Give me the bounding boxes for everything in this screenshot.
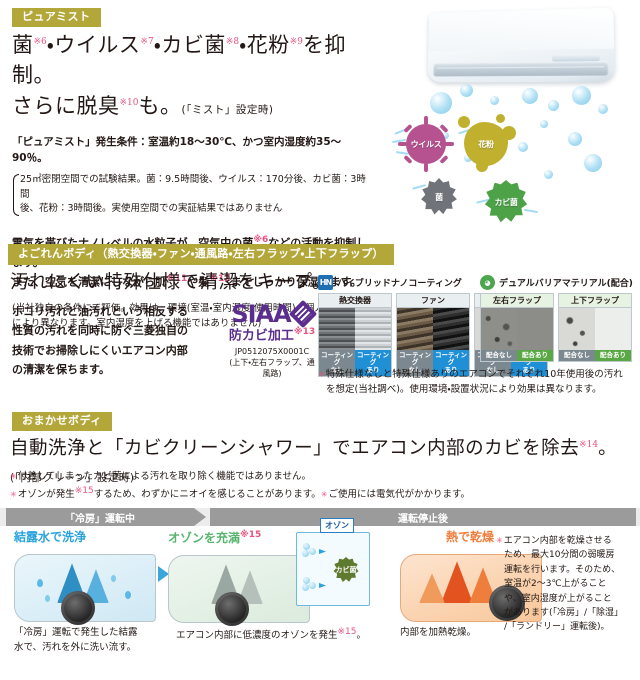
coating-table-note: 特殊仕様なしと特殊仕様ありのエアコンでそれぞれ10年使用後の汚れ を想定(当社調…: [318, 368, 638, 397]
water-droplet: [37, 579, 43, 587]
cell-images: [319, 308, 391, 350]
air-conditioner-unit-icon: [427, 8, 615, 83]
omakase-note-2-cont: するため、わずかにニオイを感じることがあります。: [94, 489, 321, 500]
heating-side-note: エアコン内部を乾燥させる ため、最大10分間の弱暖房 運転を行います。そのため、…: [496, 534, 636, 635]
headline-part: 。: [598, 438, 617, 459]
mist-particle: [518, 142, 528, 152]
mist-particle: [568, 132, 582, 146]
suppression-ray: [524, 209, 538, 213]
headline-part: 菌: [12, 33, 34, 57]
db-badge-icon: ◕: [480, 275, 495, 290]
suppression-ray: [412, 184, 426, 189]
section-badge-pure-mist: ピュアミスト: [12, 8, 101, 27]
mist-particle: [544, 170, 553, 179]
fan-drum: [61, 591, 95, 625]
mist-particle: [598, 104, 608, 114]
ozone-tag: オゾン: [320, 518, 354, 533]
swatch-with-blend: [595, 308, 631, 350]
mist-particle: [572, 86, 591, 105]
phase-label-after-stop: 運転停止後: [210, 508, 636, 526]
siaa-logo-row: SIAA: [228, 302, 316, 326]
step-1-caption: 「冷房」運転で発生した結露 水で、汚れを外に洗い流す。: [14, 626, 174, 655]
germ-mold-label: カビ菌: [494, 197, 517, 208]
cell-labels: 配合なし 配合あり: [481, 350, 553, 361]
coating-cells: 左右フラップ 配合なし 配合あり 上下フラップ: [480, 293, 633, 362]
cell-labels: 配合なし 配合あり: [559, 350, 631, 361]
ozone-callout-box: カビ菌: [296, 532, 370, 606]
omakase-note-3: ご使用には電気代がかかります。: [321, 489, 470, 500]
yogoren-headline: 汚れにくい特殊仕様で清潔をキープ。: [10, 270, 331, 297]
heat-exchanger-fin: [419, 573, 445, 603]
footnote-marker-15: ※15: [75, 486, 94, 496]
headline-part: ・花粉: [239, 33, 290, 57]
siaa-subtitle: 防カビ加工: [229, 328, 294, 343]
footnote-marker-14: ※14: [579, 440, 598, 450]
omakase-note-2: オゾンが発生: [10, 489, 75, 500]
footnote-marker-10: ※10: [120, 98, 139, 108]
cell-header: 左右フラップ: [481, 294, 553, 308]
step-1-illustration: [14, 550, 164, 626]
heat-exchanger-fin: [441, 561, 473, 603]
sidenote-line: や、室内湿度が上がること: [496, 592, 636, 606]
footnote-marker-7: ※7: [140, 37, 153, 47]
mist-particle: [584, 154, 602, 172]
pure-mist-test-note: 25㎡密閉空間での試験結果。菌：9.5時間後、ウイルス：170分後、カビ菌：3時…: [12, 173, 372, 217]
step-2: オゾンを充満※15: [168, 530, 368, 627]
caption-line: 「冷房」運転で発生した結露: [14, 626, 174, 641]
pollen-lobe: [458, 116, 470, 128]
mist-particle: [490, 96, 499, 105]
headline-part: ・カビ菌: [154, 33, 226, 57]
water-droplet: [111, 575, 116, 582]
caption-line: 。: [357, 630, 367, 641]
caption-line: エアコン内部に低濃度のオゾンを発生: [176, 630, 338, 641]
coating-cell-lr-flap: 左右フラップ 配合なし 配合あり: [480, 293, 554, 362]
phase-label-cooling: 「冷房」運転中: [6, 508, 194, 526]
footnote-marker-15c: ※15: [338, 627, 357, 637]
pure-mist-condition: 「ピュアミスト」発生条件：室温約18～30℃、かつ室内湿度約35～90％。: [12, 135, 372, 167]
section-pure-mist: ピュアミスト 菌※6・ウイルス※7・カビ菌※8・花粉※9を抑制。 さらに脱臭※1…: [0, 0, 640, 236]
mist-particle: [460, 84, 473, 97]
step-2-caption: エアコン内部に低濃度のオゾンを発生※15。: [176, 626, 386, 644]
mist-particle: [430, 92, 452, 114]
headline-part: さらに脱臭: [12, 94, 120, 118]
mist-particle: [540, 120, 548, 128]
coating-table-title-row: ◕ デュアルバリアマテリアル(配合): [480, 275, 633, 290]
table-note-line-2: を想定(当社調べ)。使用環境・設置状況により効果は異なります。: [318, 383, 638, 398]
sidenote-line: 室温が2～3℃上がること: [496, 577, 636, 591]
step-1-title: 結露水で洗浄: [14, 530, 174, 544]
coating-cell-fan: ファン コーティング なし コーティング あり: [396, 293, 470, 377]
label-no-blend: 配合なし: [481, 350, 517, 361]
pollen-lobe: [476, 160, 488, 172]
sidenote-line: があります(「冷房」/「除湿」: [496, 606, 636, 620]
mist-particle: [548, 100, 559, 111]
siaa-code: JP0512075X0001C: [228, 346, 316, 357]
footnote-marker-6: ※6: [34, 37, 47, 47]
product-feature-page: ピュアミスト 菌※6・ウイルス※7・カビ菌※8・花粉※9を抑制。 さらに脱臭※1…: [0, 0, 640, 680]
footnote-marker-13: ※13: [294, 327, 315, 337]
coating-table-title: デュアルバリアマテリアル(配合): [499, 276, 633, 289]
cell-header: 上下フラップ: [559, 294, 631, 308]
germ-virus-spikes: [402, 120, 450, 168]
siaa-logo-text: SIAA: [231, 302, 290, 326]
mold-label: カビ菌: [336, 565, 357, 575]
test-note-line-2: 後、花粉：3時間後。実使用空間での実証結果ではありません: [20, 202, 372, 217]
headline-part: ・ウイルス: [47, 33, 141, 57]
sidenote-line: エアコン内部を乾燥させる: [496, 534, 636, 548]
coating-cell-ud-flap: 上下フラップ 配合なし 配合あり: [558, 293, 632, 362]
label-no-blend: 配合なし: [559, 350, 595, 361]
pollen-lobe: [496, 114, 505, 123]
cell-images: [559, 308, 631, 350]
test-note-line-1: 25㎡密閉空間での試験結果。菌：9.5時間後、ウイルス：170分後、カビ菌：3時…: [20, 173, 372, 202]
water-droplet: [45, 595, 50, 602]
coating-table-title: ハイブリッドナノコーティング: [337, 276, 462, 289]
ac-louver: [433, 61, 608, 76]
section-omakase-body: おまかせボディ 自動洗浄と「カビクリーンシャワー」でエアコン内部のカビを除去※1…: [0, 408, 640, 680]
arrow-marker: [319, 549, 326, 554]
step-2-title: オゾンを充満: [168, 531, 240, 545]
cell-header: 熱交換器: [319, 294, 391, 308]
germ-pollen-label: 花粉: [478, 139, 493, 150]
swatch-with-coating: [433, 308, 469, 350]
cell-images: [397, 308, 469, 350]
footnote-marker-9: ※9: [290, 37, 303, 47]
headline-part: 自動洗浄と「カビクリーンシャワー」でエアコン内部のカビを除去: [10, 438, 579, 459]
yogoren-body-text: ホコリ汚れと油汚れという相反する 性質の汚れを同時に防ぐ三菱独自の 技術でお掃除…: [12, 302, 227, 379]
coating-table-dual-barrier: ◕ デュアルバリアマテリアル(配合) 左右フラップ 配合なし 配合あり 上: [480, 275, 633, 362]
siaa-scope: (上下・左右フラップ、通風路): [228, 357, 316, 379]
label-with-blend: 配合あり: [595, 350, 631, 361]
body-line: ホコリ汚れと油汚れという相反する: [12, 302, 227, 321]
section-bar-yogoren-body: よごれんボディ（熱交換器・ファン・通風路・左右フラップ・上下フラップ）: [8, 244, 394, 265]
swatch-no-coating: [319, 308, 355, 350]
siaa-subtitle-row: 防カビ加工※13: [228, 327, 316, 344]
footnote-marker-8: ※8: [226, 37, 239, 47]
sidenote-line: ため、最大10分間の弱暖房: [496, 548, 636, 562]
cleaning-process-diagram: 「冷房」運転中 運転停止後 結露水で洗浄: [0, 508, 640, 680]
omakase-notes: 付着してしまったカビ菌による汚れを取り除く機能ではありません。 オゾンが発生※1…: [10, 470, 630, 503]
sidenote-line: 運転を行います。そのため、: [496, 563, 636, 577]
sidenote-line: /「ランドリー」運転後)。: [496, 620, 636, 634]
cell-images: [481, 308, 553, 350]
swatch-no-coating: [397, 308, 433, 350]
arrow-marker: [319, 583, 326, 588]
table-note-line-1: 特殊仕様なしと特殊仕様ありのエアコンでそれぞれ10年使用後の汚れ: [318, 368, 638, 383]
fan-drum: [215, 592, 249, 626]
swatch-no-blend: [559, 308, 595, 350]
body-line: 技術でお掃除しにくいエアコン内部: [12, 341, 227, 360]
siaa-diamond-icon: [289, 300, 317, 328]
pure-mist-headline: 菌※6・ウイルス※7・カビ菌※8・花粉※9を抑制。 さらに脱臭※10も。(「ミス…: [12, 30, 372, 121]
body-line: の清潔を保ちます。: [12, 360, 227, 379]
cell-header: ファン: [397, 294, 469, 308]
step-1: 結露水で洗浄: [14, 530, 174, 626]
footnote-marker-15b: ※15: [240, 530, 261, 540]
germ-pollen: 花粉: [464, 122, 508, 166]
headline-part: も。: [139, 94, 182, 118]
swatch-with-coating: [355, 308, 391, 350]
label-with-blend: 配合あり: [517, 350, 553, 361]
swatch-no-blend: [481, 308, 517, 350]
body-line: 性質の汚れを同時に防ぐ三菱独自の: [12, 321, 227, 340]
ac-top-panel: [428, 8, 614, 52]
water-droplet: [125, 591, 131, 599]
mist-particle: [522, 88, 538, 104]
omakase-note-1: 付着してしまったカビ菌による汚れを取り除く機能ではありません。: [10, 470, 630, 485]
siaa-certification: SIAA 防カビ加工※13 JP0512075X0001C (上下・左右フラップ…: [228, 302, 316, 379]
swatch-with-blend: [517, 308, 553, 350]
germ-mold: カビ菌: [484, 180, 528, 224]
unit-shell: [14, 554, 156, 622]
headline-tail-note: (「ミスト」設定時): [182, 104, 274, 116]
mold-germ-icon: カビ菌: [333, 557, 359, 583]
germ-bacteria-label: 菌: [435, 192, 443, 203]
section-badge-omakase-body: おまかせボディ: [12, 412, 112, 431]
omakase-note-2-row: オゾンが発生※15するため、わずかにニオイを感じることがあります。ご使用には電気…: [10, 485, 630, 503]
coating-cell-heat-exchanger: 熱交換器 コーティング なし コーティング あり: [318, 293, 392, 377]
hn-badge-icon: HN: [318, 275, 333, 290]
air-conditioner-illustration: ウイルス 花粉 菌: [372, 4, 636, 232]
unit-shell: [168, 555, 310, 623]
caption-line: 水で、汚れを外に洗い流す。: [14, 641, 174, 656]
pollen-lobe: [502, 126, 516, 140]
